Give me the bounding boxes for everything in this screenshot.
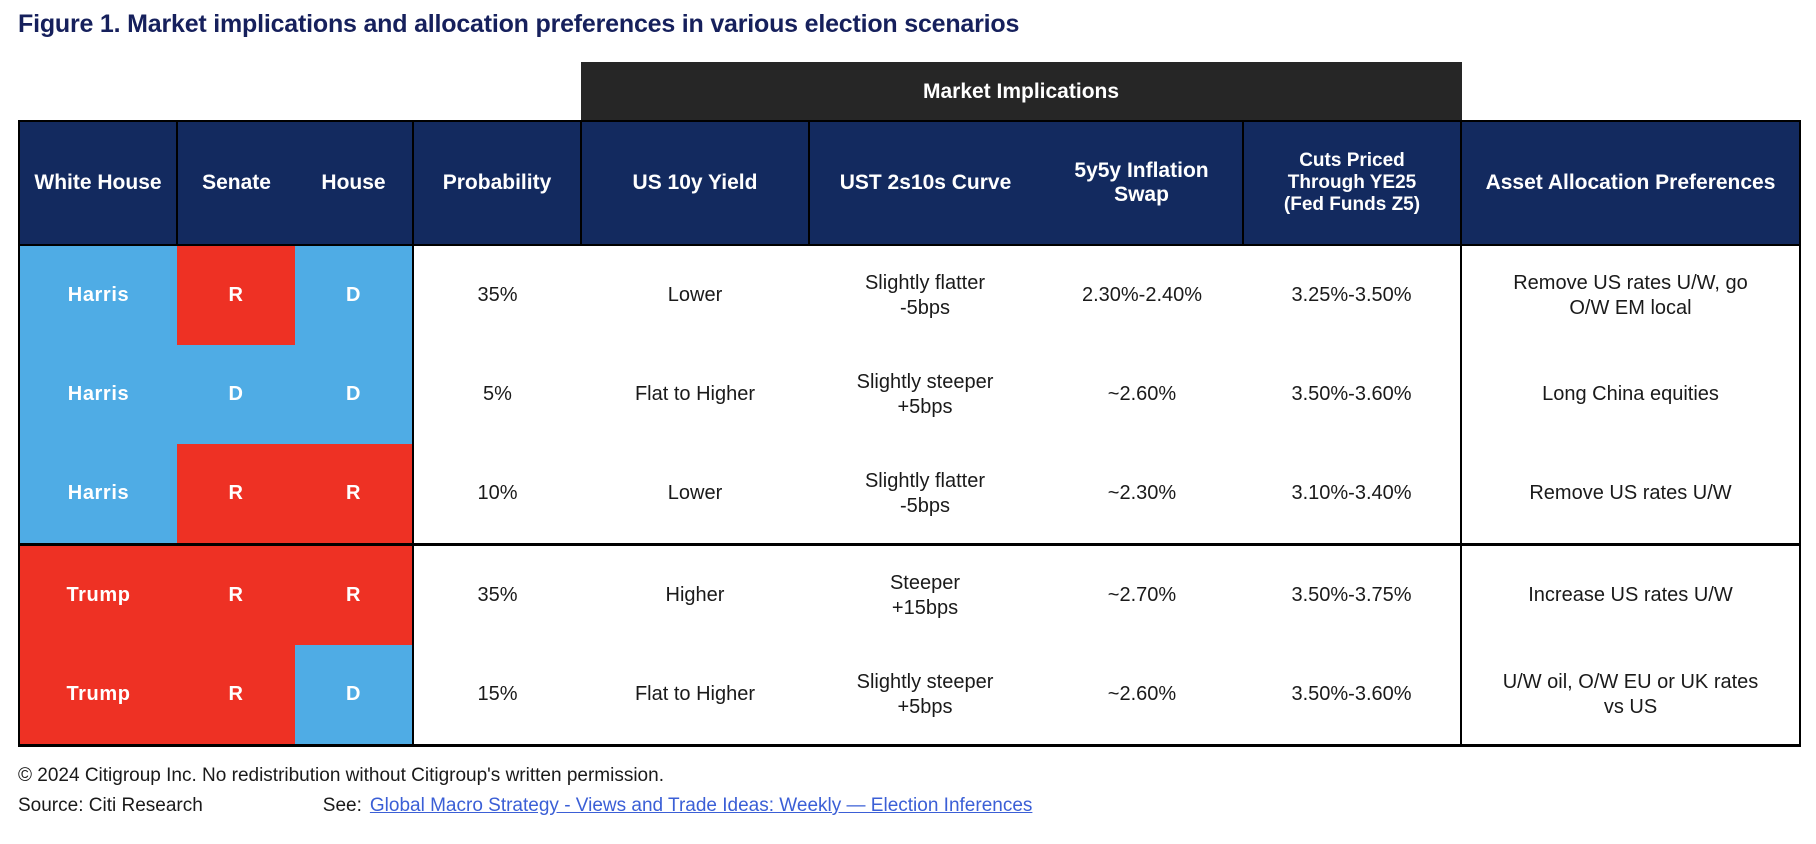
banner-spacer-right	[1461, 63, 1800, 122]
curve-line-1: Slightly steeper	[857, 371, 994, 393]
col-header-us-10y-yield: US 10y Yield	[581, 121, 809, 245]
cell-us-10y-yield: Lower	[581, 245, 809, 345]
cell-white-house: Trump	[19, 545, 177, 646]
curve-line-2: -5bps	[900, 297, 950, 319]
cuts-priced-line-3: (Fed Funds Z5)	[1248, 194, 1456, 216]
cell-senate: R	[177, 645, 295, 746]
col-header-asset-allocation: Asset Allocation Preferences	[1461, 121, 1800, 245]
cuts-priced-line-2: Through YE25	[1248, 172, 1456, 194]
cell-us-10y-yield: Lower	[581, 444, 809, 545]
cell-probability: 15%	[413, 645, 581, 746]
cell-cuts-priced: 3.50%-3.60%	[1243, 345, 1461, 444]
cell-us-10y-yield: Higher	[581, 545, 809, 646]
col-header-inflation-swap: 5y5y Inflation Swap	[1041, 121, 1243, 245]
cell-house: D	[295, 345, 413, 444]
copyright-text: © 2024 Citigroup Inc. No redistribution …	[18, 765, 1798, 787]
scenario-table-wrapper: Market Implications White House Senate H…	[18, 62, 1799, 747]
cell-white-house: Harris	[19, 444, 177, 545]
figure-footer: © 2024 Citigroup Inc. No redistribution …	[18, 765, 1798, 817]
curve-line-1: Steeper	[890, 572, 960, 594]
curve-line-1: Slightly steeper	[857, 671, 994, 693]
cell-ust-2s10s-curve: Slightly flatter -5bps	[809, 444, 1041, 545]
cell-ust-2s10s-curve: Steeper +15bps	[809, 545, 1041, 646]
cell-white-house: Harris	[19, 245, 177, 345]
curve-line-2: -5bps	[900, 495, 950, 517]
cell-senate: R	[177, 245, 295, 345]
asset-line-1: U/W oil, O/W EU or UK rates	[1503, 671, 1759, 693]
cell-cuts-priced: 3.50%-3.75%	[1243, 545, 1461, 646]
curve-line-1: Slightly flatter	[865, 272, 985, 294]
page-title: Figure 1. Market implications and alloca…	[18, 10, 1019, 39]
source-text: Source: Citi Research	[18, 795, 203, 817]
curve-line-2: +15bps	[892, 597, 958, 619]
cell-ust-2s10s-curve: Slightly steeper +5bps	[809, 345, 1041, 444]
cell-inflation-swap: ~2.60%	[1041, 645, 1243, 746]
cell-us-10y-yield: Flat to Higher	[581, 345, 809, 444]
table-row: Harris R D 35% Lower Slightly flatter -5…	[19, 245, 1800, 345]
table-row: Harris R R 10% Lower Slightly flatter -5…	[19, 444, 1800, 545]
cuts-priced-line-1: Cuts Priced	[1248, 150, 1456, 172]
cell-house: R	[295, 444, 413, 545]
curve-line-2: +5bps	[897, 396, 952, 418]
col-header-ust-2s10s-curve: UST 2s10s Curve	[809, 121, 1041, 245]
cell-ust-2s10s-curve: Slightly steeper +5bps	[809, 645, 1041, 746]
cell-inflation-swap: ~2.30%	[1041, 444, 1243, 545]
cell-probability: 5%	[413, 345, 581, 444]
col-header-white-house: White House	[19, 121, 177, 245]
asset-line-2: vs US	[1604, 696, 1657, 718]
table-row: Trump R D 15% Flat to Higher Slightly st…	[19, 645, 1800, 746]
table-row: Harris D D 5% Flat to Higher Slightly st…	[19, 345, 1800, 444]
col-header-probability: Probability	[413, 121, 581, 245]
cell-asset-allocation: U/W oil, O/W EU or UK rates vs US	[1461, 645, 1800, 746]
cell-probability: 35%	[413, 545, 581, 646]
cell-us-10y-yield: Flat to Higher	[581, 645, 809, 746]
curve-line-1: Slightly flatter	[865, 470, 985, 492]
asset-line-2: O/W EM local	[1569, 297, 1691, 319]
cell-ust-2s10s-curve: Slightly flatter -5bps	[809, 245, 1041, 345]
cell-cuts-priced: 3.50%-3.60%	[1243, 645, 1461, 746]
cell-house: R	[295, 545, 413, 646]
cell-senate: D	[177, 345, 295, 444]
cell-probability: 35%	[413, 245, 581, 345]
cell-asset-allocation: Remove US rates U/W, go O/W EM local	[1461, 245, 1800, 345]
banner-row: Market Implications	[19, 63, 1800, 122]
scenario-table: Market Implications White House Senate H…	[18, 62, 1801, 747]
cell-cuts-priced: 3.10%-3.40%	[1243, 444, 1461, 545]
curve-line-2: +5bps	[897, 696, 952, 718]
cell-inflation-swap: ~2.70%	[1041, 545, 1243, 646]
cell-cuts-priced: 3.25%-3.50%	[1243, 245, 1461, 345]
asset-line-1: Remove US rates U/W, go	[1513, 272, 1748, 294]
col-header-house: House	[295, 121, 413, 245]
market-implications-banner: Market Implications	[581, 63, 1461, 122]
header-row: White House Senate House Probability US …	[19, 121, 1800, 245]
cell-asset-allocation: Remove US rates U/W	[1461, 444, 1800, 545]
figure-page: Figure 1. Market implications and alloca…	[0, 0, 1816, 844]
cell-asset-allocation: Long China equities	[1461, 345, 1800, 444]
source-line: Source: Citi Research See: Global Macro …	[18, 795, 1798, 817]
cell-probability: 10%	[413, 444, 581, 545]
cell-inflation-swap: 2.30%-2.40%	[1041, 245, 1243, 345]
report-link[interactable]: Global Macro Strategy - Views and Trade …	[370, 795, 1033, 817]
table-row: Trump R R 35% Higher Steeper +15bps ~2.7…	[19, 545, 1800, 646]
banner-spacer	[19, 63, 581, 122]
cell-inflation-swap: ~2.60%	[1041, 345, 1243, 444]
cell-white-house: Harris	[19, 345, 177, 444]
see-label: See:	[323, 795, 362, 817]
cell-house: D	[295, 245, 413, 345]
col-header-cuts-priced: Cuts Priced Through YE25 (Fed Funds Z5)	[1243, 121, 1461, 245]
cell-senate: R	[177, 545, 295, 646]
cell-white-house: Trump	[19, 645, 177, 746]
cell-house: D	[295, 645, 413, 746]
cell-senate: R	[177, 444, 295, 545]
col-header-senate: Senate	[177, 121, 295, 245]
cell-asset-allocation: Increase US rates U/W	[1461, 545, 1800, 646]
